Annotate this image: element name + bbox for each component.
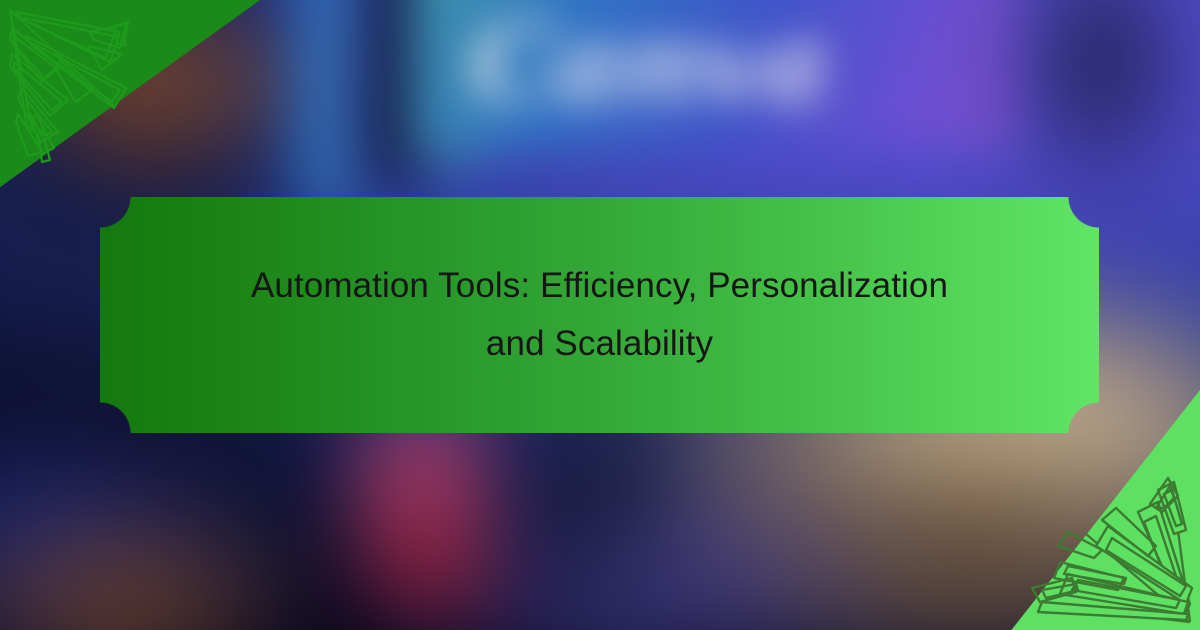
canva-wordmark: Canva [470, 0, 990, 134]
title-banner: Automation Tools: Efficiency, Personaliz… [100, 197, 1099, 433]
share-card-canvas: Canva [0, 0, 1200, 630]
page-title: Automation Tools: Efficiency, Personaliz… [170, 257, 1030, 373]
leaf-frond-icon-bottom-right [998, 438, 1198, 628]
leaf-frond-icon-top-left [2, 2, 212, 202]
